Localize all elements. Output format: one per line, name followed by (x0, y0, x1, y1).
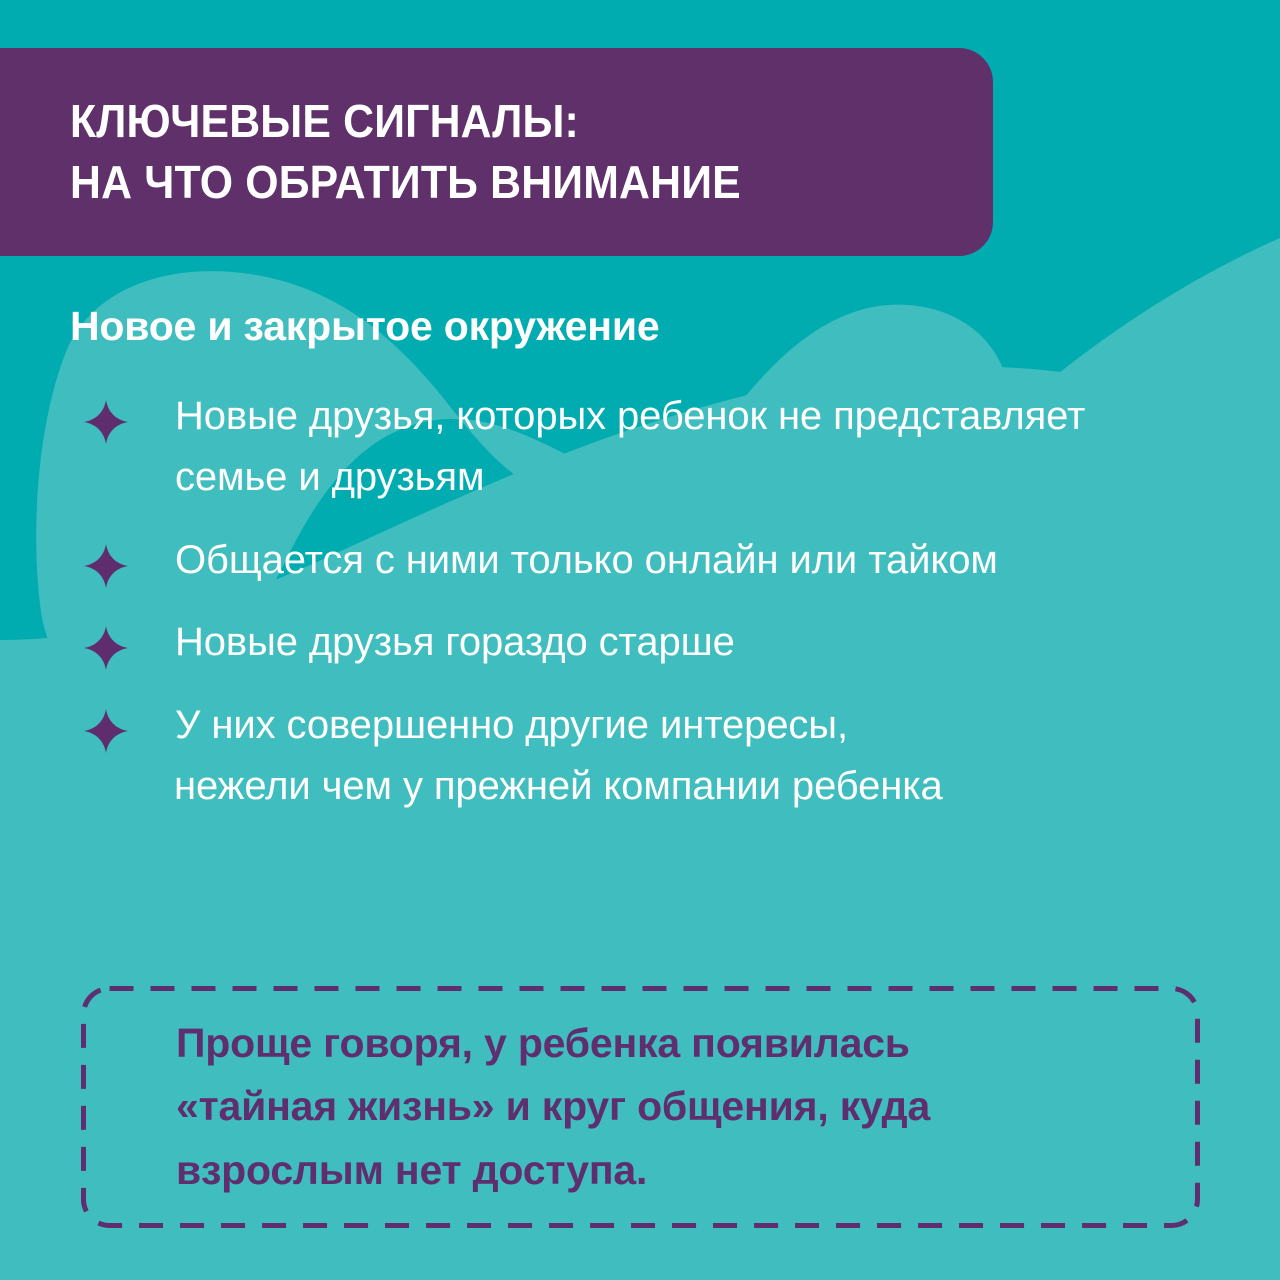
list-item-text: Общается с ними только онлайн или тайком (175, 530, 1110, 591)
list-item-line-1: Общается с ними только онлайн или (175, 538, 857, 582)
list-item-text: У них совершенно другие интересы, нежели… (175, 695, 1240, 817)
callout-line-3: взрослым нет доступа. (176, 1147, 647, 1193)
list-item: Новые друзья, которых ребенок не предста… (0, 386, 1280, 508)
list-item-line-2: тайком (868, 538, 998, 582)
summary-callout: Проще говоря, у ребенка появилась «тайна… (81, 986, 1200, 1228)
list-item: У них совершенно другие интересы, нежели… (0, 695, 1280, 817)
list-item: Новые друзья гораздо старше (0, 612, 1280, 673)
callout-line-1: Проще говоря, у ребенка появилась (176, 1020, 910, 1066)
list-item-line-1: Новые друзья гораздо старше (175, 620, 735, 664)
summary-callout-text: Проще говоря, у ребенка появилась «тайна… (81, 1012, 970, 1203)
list-item-line-1: Новые друзья, которых ребенок не (175, 394, 822, 438)
sparkle-star-icon (84, 400, 128, 444)
callout-line-2: «тайная жизнь» и круг общения, куда (176, 1083, 930, 1129)
sparkle-star-icon (84, 626, 128, 670)
sparkle-star-icon (84, 544, 128, 588)
list-item-line-2: нежели чем у прежней компании ребенка (174, 756, 1244, 817)
list-item-line-1: У них совершенно другие интересы, (175, 703, 848, 747)
signals-list: Новые друзья, которых ребенок не предста… (0, 386, 1280, 839)
list-item-text: Новые друзья, которых ребенок не предста… (175, 386, 1110, 508)
list-item-text: Новые друзья гораздо старше (175, 612, 1110, 673)
list-item: Общается с ними только онлайн или тайком (0, 530, 1280, 591)
sparkle-star-icon (84, 709, 128, 753)
section-subheading: Новое и закрытое окружение (70, 303, 659, 350)
